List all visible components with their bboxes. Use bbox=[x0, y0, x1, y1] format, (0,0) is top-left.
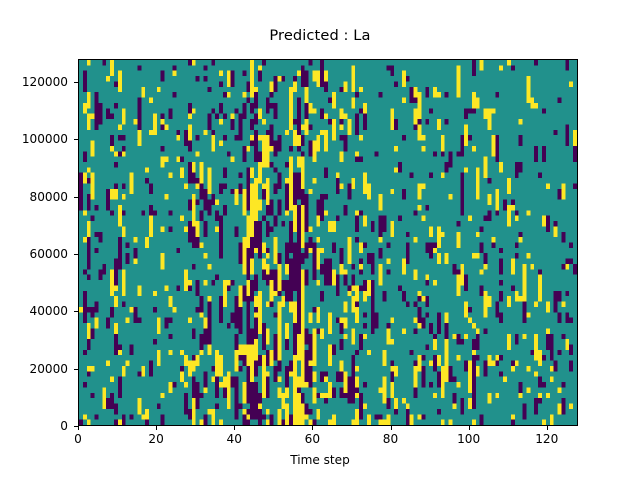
x-tick-mark bbox=[469, 426, 470, 430]
x-tick-label: 100 bbox=[457, 432, 480, 446]
y-tick-label: 100000 bbox=[22, 132, 68, 146]
y-tick-label: 20000 bbox=[30, 362, 68, 376]
y-tick-label: 60000 bbox=[30, 247, 68, 261]
x-tick-mark bbox=[547, 426, 548, 430]
x-tick-label: 40 bbox=[227, 432, 242, 446]
y-tick-mark bbox=[74, 311, 78, 312]
y-tick-mark bbox=[74, 82, 78, 83]
x-tick-mark bbox=[156, 426, 157, 430]
y-tick-label: 120000 bbox=[22, 75, 68, 89]
x-tick-label: 60 bbox=[305, 432, 320, 446]
y-tick-mark bbox=[74, 139, 78, 140]
x-tick-label: 20 bbox=[148, 432, 163, 446]
x-tick-label: 80 bbox=[383, 432, 398, 446]
y-tick-mark bbox=[74, 369, 78, 370]
x-axis-label: Time step bbox=[0, 453, 640, 467]
heatmap-image bbox=[79, 60, 577, 425]
matplotlib-figure: Predicted : La 0200004000060000800001000… bbox=[0, 0, 640, 480]
x-tick-mark bbox=[312, 426, 313, 430]
x-tick-label: 0 bbox=[74, 432, 82, 446]
y-tick-label: 40000 bbox=[30, 304, 68, 318]
x-tick-mark bbox=[78, 426, 79, 430]
y-tick-mark bbox=[74, 254, 78, 255]
heatmap-axes bbox=[78, 59, 578, 426]
y-tick-label: 80000 bbox=[30, 190, 68, 204]
y-tick-label: 0 bbox=[60, 419, 68, 433]
x-tick-label: 120 bbox=[535, 432, 558, 446]
x-tick-mark bbox=[391, 426, 392, 430]
y-tick-mark bbox=[74, 197, 78, 198]
plot-title: Predicted : La bbox=[0, 27, 640, 44]
x-tick-mark bbox=[234, 426, 235, 430]
